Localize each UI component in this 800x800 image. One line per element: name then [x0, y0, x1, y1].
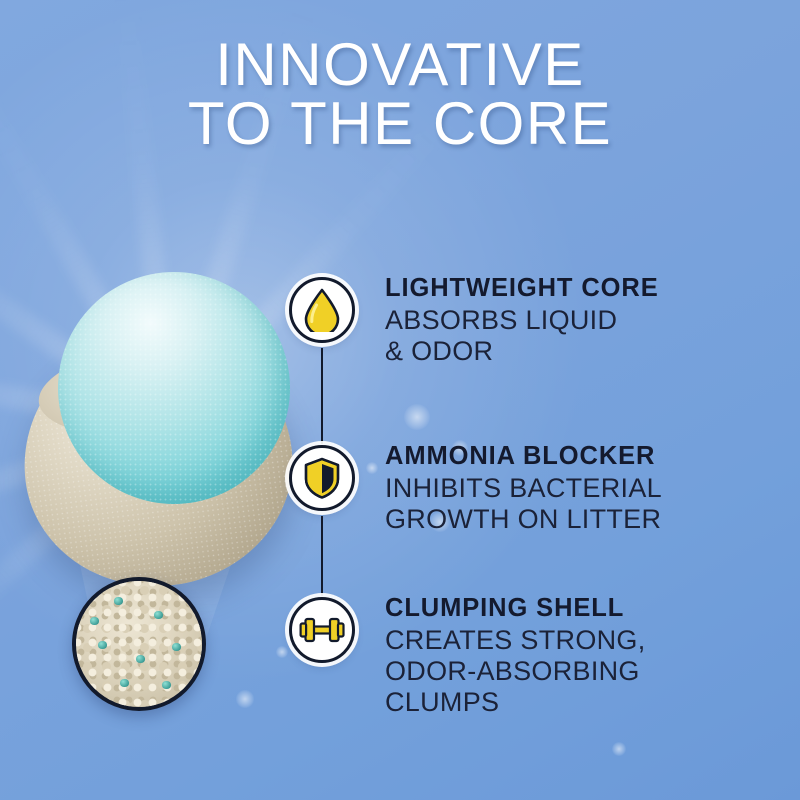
feature-body-line: ODOR-ABSORBING [385, 656, 646, 687]
feature-heading: CLUMPING SHELL [385, 595, 646, 622]
feature-body: ABSORBS LIQUID & ODOR [385, 305, 659, 367]
feature-heading: LIGHTWEIGHT CORE [385, 275, 659, 302]
feature-text: AMMONIA BLOCKER INHIBITS BACTERIAL GROWT… [385, 443, 662, 535]
feature-body-line: CREATES STRONG, [385, 625, 646, 656]
dumbbell-icon [299, 614, 345, 646]
feature-body: CREATES STRONG, ODOR-ABSORBING CLUMPS [385, 625, 646, 717]
feature-icon-badge [289, 597, 355, 663]
infographic-poster: INNOVATIVE TO THE CORE [0, 0, 800, 800]
connector-line [321, 348, 323, 444]
feature-icon-badge [289, 445, 355, 511]
feature-body: INHIBITS BACTERIAL GROWTH ON LITTER [385, 473, 662, 535]
feature-body-line: CLUMPS [385, 687, 646, 718]
feature-heading: AMMONIA BLOCKER [385, 443, 662, 470]
shield-icon [302, 456, 342, 500]
connector-line [321, 516, 323, 596]
feature-body-line: GROWTH ON LITTER [385, 504, 662, 535]
droplet-icon [303, 288, 341, 332]
feature-text: LIGHTWEIGHT CORE ABSORBS LIQUID & ODOR [385, 275, 659, 367]
feature-body-line: ABSORBS LIQUID [385, 305, 659, 336]
feature-text: CLUMPING SHELL CREATES STRONG, ODOR-ABSO… [385, 595, 646, 717]
feature-body-line: INHIBITS BACTERIAL [385, 473, 662, 504]
feature-icon-badge [289, 277, 355, 343]
feature-body-line: & ODOR [385, 336, 659, 367]
feature-list: LIGHTWEIGHT CORE ABSORBS LIQUID & ODOR A… [0, 0, 800, 800]
